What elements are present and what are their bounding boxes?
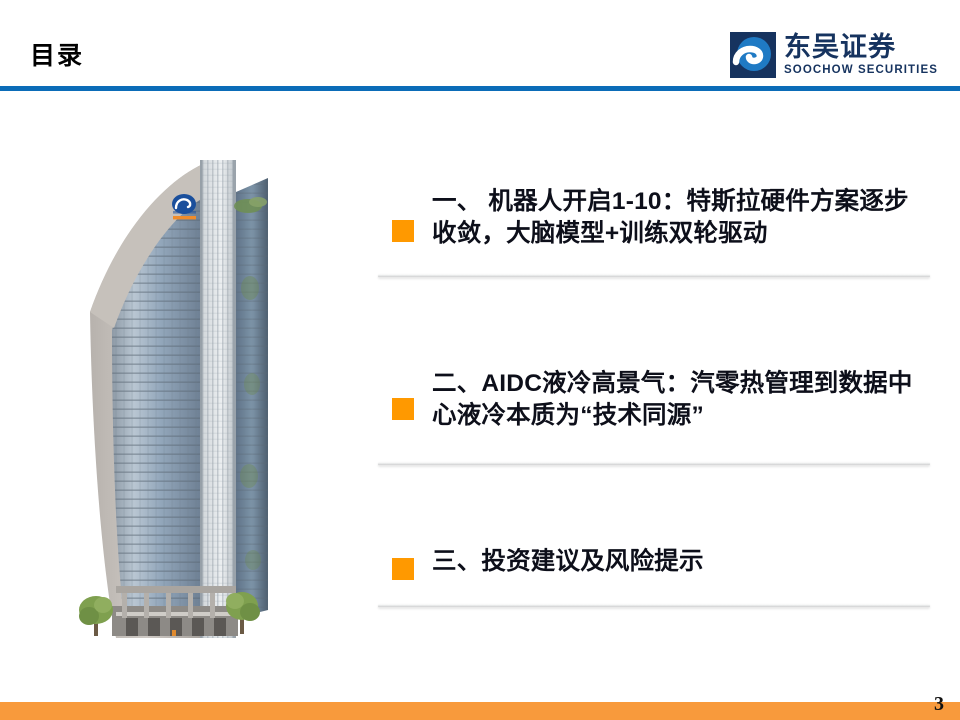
page-title: 目录 <box>30 44 84 69</box>
agenda-item-2-label: 二、AIDC液冷高景气：汽零热管理到数据中心液冷本质为“技术同源” <box>432 364 930 433</box>
agenda-item-2[interactable]: 二、AIDC液冷高景气：汽零热管理到数据中心液冷本质为“技术同源” <box>378 364 930 462</box>
agenda-item-1[interactable]: 一、 机器人开启1-10：特斯拉硬件方案逐步收敛，大脑模型+训练双轮驱动 <box>378 176 930 266</box>
logo-wordmark: 东吴证券 SOOCHOW SECURITIES <box>784 34 938 77</box>
agenda-divider-3 <box>378 604 930 608</box>
headquarters-building-photo <box>72 140 308 650</box>
logo-chinese-name: 东吴证券 <box>784 34 938 61</box>
logo-english-name: SOOCHOW SECURITIES <box>784 65 938 77</box>
logo-s-swirl-icon <box>730 32 776 78</box>
tree-left <box>79 596 113 636</box>
soochow-securities-logo-mark-icon <box>730 32 776 78</box>
agenda-list: 一、 机器人开启1-10：特斯拉硬件方案逐步收敛，大脑模型+训练双轮驱动 二、A… <box>378 176 930 608</box>
orange-square-bullet-icon <box>392 558 414 580</box>
building-illustration <box>72 140 308 650</box>
agenda-item-3[interactable]: 三、投资建议及风险提示 <box>378 544 930 604</box>
orange-square-bullet-icon <box>392 398 414 420</box>
page-number: 3 <box>934 694 944 714</box>
agenda-item-3-label: 三、投资建议及风险提示 <box>432 544 930 578</box>
company-logo: 东吴证券 SOOCHOW SECURITIES <box>730 31 938 79</box>
orange-square-bullet-icon <box>392 220 414 242</box>
header-rule <box>0 86 960 91</box>
agenda-spacer-1 <box>378 278 930 364</box>
slide-目录: 目录 东吴证券 SOOCHOW SECURITIES <box>0 0 960 720</box>
agenda-item-1-label: 一、 机器人开启1-10：特斯拉硬件方案逐步收敛，大脑模型+训练双轮驱动 <box>432 176 930 251</box>
agenda-spacer-2 <box>378 466 930 544</box>
footer-bar <box>0 702 960 720</box>
